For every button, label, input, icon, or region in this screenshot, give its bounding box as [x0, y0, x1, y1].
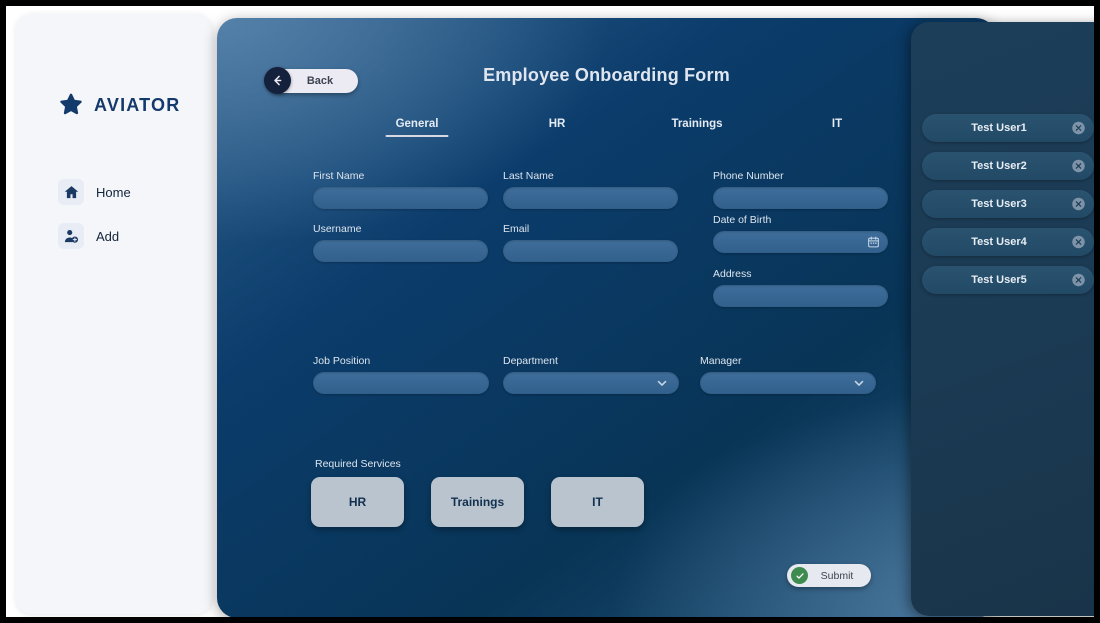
- star-icon: [58, 92, 84, 118]
- close-circle-icon[interactable]: [1071, 273, 1086, 288]
- date-of-birth-input[interactable]: [713, 231, 888, 253]
- chevron-down-icon: [655, 376, 669, 390]
- list-item[interactable]: Test User5: [922, 266, 1094, 294]
- field-job-position: Job Position: [313, 355, 489, 394]
- user-name: Test User3: [971, 198, 1044, 210]
- list-item[interactable]: Test User1: [922, 114, 1094, 142]
- field-date-of-birth: Date of Birth: [713, 214, 888, 253]
- last-name-input[interactable]: [503, 187, 678, 209]
- user-list: Test User1 Test User2 Test User3: [922, 114, 1094, 304]
- department-select[interactable]: [503, 372, 679, 394]
- app-root: AVIATOR Home Add: [0, 0, 1100, 623]
- field-department-label: Department: [503, 355, 679, 367]
- user-list-panel: Test User1 Test User2 Test User3: [911, 22, 1100, 616]
- close-circle-icon[interactable]: [1071, 197, 1086, 212]
- required-services-group: HR Trainings IT: [311, 477, 644, 527]
- list-item[interactable]: Test User2: [922, 152, 1094, 180]
- brand-name: AVIATOR: [94, 95, 180, 116]
- field-address: Address: [713, 268, 888, 307]
- sidebar-item-add[interactable]: Add: [58, 223, 188, 249]
- check-circle-icon: [791, 567, 808, 584]
- sidebar: AVIATOR Home Add: [16, 14, 212, 614]
- field-first-name-label: First Name: [313, 170, 488, 182]
- field-last-name-label: Last Name: [503, 170, 678, 182]
- chevron-down-icon: [852, 376, 866, 390]
- sidebar-nav: Home Add: [58, 179, 188, 267]
- sidebar-item-add-label: Add: [96, 229, 119, 244]
- field-first-name: First Name: [313, 170, 488, 209]
- username-input[interactable]: [313, 240, 488, 262]
- form-fields: First Name Last Name Phone Number Userna…: [217, 18, 996, 618]
- field-email: Email: [503, 223, 678, 262]
- field-phone-number-label: Phone Number: [713, 170, 888, 182]
- email-input[interactable]: [503, 240, 678, 262]
- brand-logo: AVIATOR: [58, 92, 180, 118]
- field-username-label: Username: [313, 223, 488, 235]
- calendar-icon[interactable]: [867, 236, 880, 249]
- field-email-label: Email: [503, 223, 678, 235]
- close-circle-icon[interactable]: [1071, 121, 1086, 136]
- list-item[interactable]: Test User3: [922, 190, 1094, 218]
- user-name: Test User4: [971, 236, 1044, 248]
- field-date-of-birth-label: Date of Birth: [713, 214, 888, 226]
- service-button-trainings[interactable]: Trainings: [431, 477, 524, 527]
- address-input[interactable]: [713, 285, 888, 307]
- user-name: Test User2: [971, 160, 1044, 172]
- sidebar-item-home[interactable]: Home: [58, 179, 188, 205]
- field-job-position-label: Job Position: [313, 355, 489, 367]
- add-user-icon: [58, 223, 84, 249]
- field-phone-number: Phone Number: [713, 170, 888, 209]
- field-manager-label: Manager: [700, 355, 876, 367]
- field-username: Username: [313, 223, 488, 262]
- submit-button[interactable]: Submit: [787, 564, 871, 587]
- first-name-input[interactable]: [313, 187, 488, 209]
- job-position-input[interactable]: [313, 372, 489, 394]
- service-button-it[interactable]: IT: [551, 477, 644, 527]
- user-name: Test User5: [971, 274, 1044, 286]
- field-last-name: Last Name: [503, 170, 678, 209]
- sidebar-item-home-label: Home: [96, 185, 131, 200]
- field-address-label: Address: [713, 268, 888, 280]
- manager-select[interactable]: [700, 372, 876, 394]
- main-panel: Back Employee Onboarding Form General HR…: [217, 18, 996, 618]
- field-department: Department: [503, 355, 679, 394]
- required-services-label: Required Services: [315, 458, 401, 470]
- phone-number-input[interactable]: [713, 187, 888, 209]
- home-icon: [58, 179, 84, 205]
- close-circle-icon[interactable]: [1071, 235, 1086, 250]
- user-name: Test User1: [971, 122, 1044, 134]
- list-item[interactable]: Test User4: [922, 228, 1094, 256]
- close-circle-icon[interactable]: [1071, 159, 1086, 174]
- service-button-hr[interactable]: HR: [311, 477, 404, 527]
- field-manager: Manager: [700, 355, 876, 394]
